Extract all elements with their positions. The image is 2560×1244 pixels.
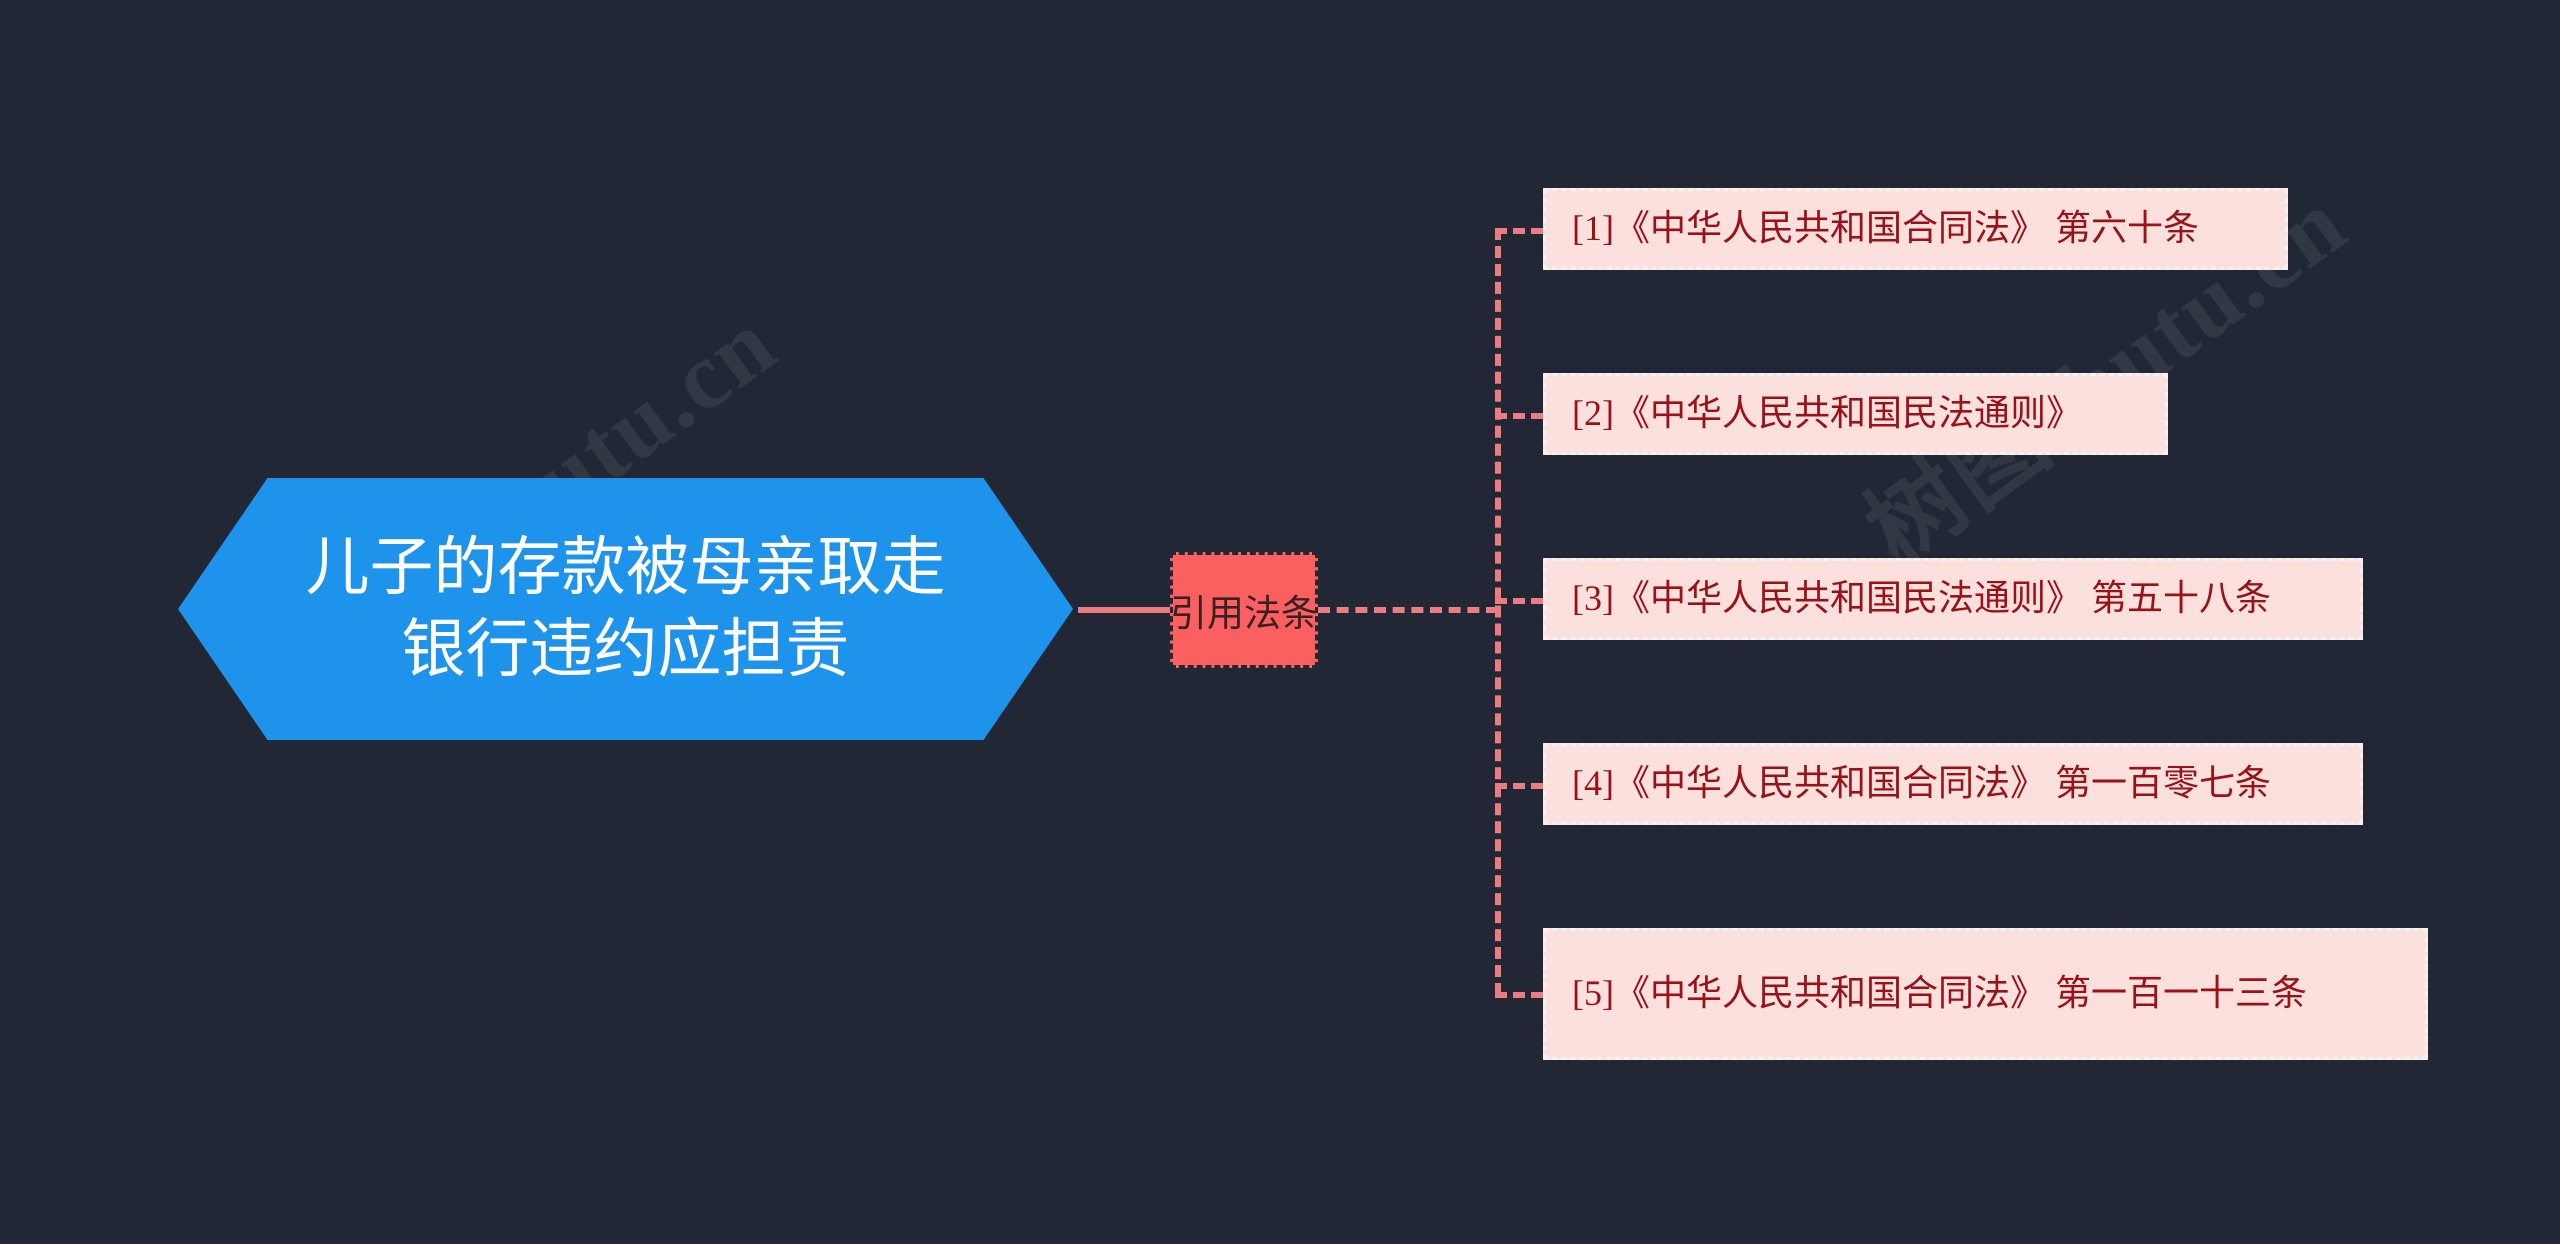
leaf-node-3[interactable]: [3]《中华人民共和国民法通则》 第五十八条 [1543,558,2363,640]
connector-stub-leaf-3 [1495,598,1543,604]
branch-node-label: 引用法条 [1170,583,1318,637]
leaf-node-2-label: [2]《中华人民共和国民法通则》 [1572,390,2082,438]
mindmap-canvas: 树图shutu.cn 树图shutu.cn 儿子的存款被母亲取走 银行违约应担责… [0,0,2560,1244]
leaf-node-1[interactable]: [1]《中华人民共和国合同法》 第六十条 [1543,188,2288,270]
leaf-node-4[interactable]: [4]《中华人民共和国合同法》 第一百零七条 [1543,743,2363,825]
leaf-node-2[interactable]: [2]《中华人民共和国民法通则》 [1543,373,2168,455]
connector-branch-to-trunk [1318,607,1498,613]
root-node[interactable]: 儿子的存款被母亲取走 银行违约应担责 [178,478,1073,740]
connector-stub-leaf-1 [1495,228,1543,234]
connector-trunk-vertical [1495,228,1501,995]
connector-stub-leaf-5 [1495,992,1543,998]
connector-root-to-branch [1078,607,1174,613]
root-node-label: 儿子的存款被母亲取走 银行违约应担责 [296,527,956,691]
connector-stub-leaf-4 [1495,783,1543,789]
leaf-node-5[interactable]: [5]《中华人民共和国合同法》 第一百一十三条 [1543,928,2428,1060]
leaf-node-3-label: [3]《中华人民共和国民法通则》 第五十八条 [1572,575,2271,623]
leaf-node-5-label: [5]《中华人民共和国合同法》 第一百一十三条 [1572,970,2307,1018]
leaf-node-4-label: [4]《中华人民共和国合同法》 第一百零七条 [1572,760,2271,808]
branch-node-cited-statutes[interactable]: 引用法条 [1170,552,1318,668]
leaf-node-1-label: [1]《中华人民共和国合同法》 第六十条 [1572,205,2199,253]
connector-stub-leaf-2 [1495,413,1543,419]
